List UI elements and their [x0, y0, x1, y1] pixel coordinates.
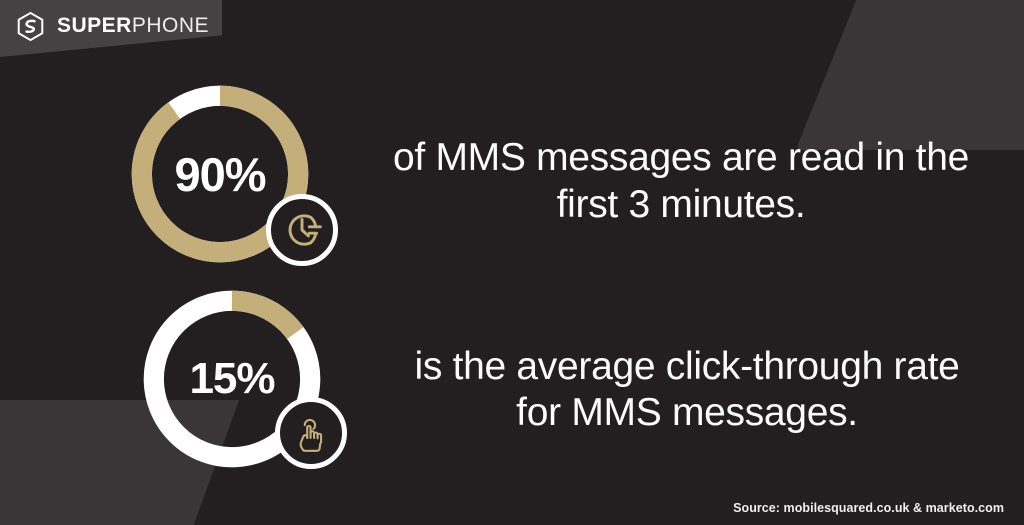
source-citation: Source: mobilesquared.co.uk & marketo.co… — [733, 501, 1004, 515]
superphone-hexagon-logo-icon — [15, 11, 46, 42]
brand-banner: SUPERPHONE — [0, 0, 222, 57]
brand-wordmark: SUPERPHONE — [57, 14, 209, 38]
stat-row-click-through: 15% — [0, 287, 1024, 487]
donut-chart-90: 90% — [128, 82, 358, 277]
brand-wordmark-light: PHONE — [132, 14, 209, 37]
stat-row-read-rate: 90% of MMS messages are read in the firs… — [0, 82, 1024, 277]
donut-chart-15: 15% — [140, 287, 370, 487]
tap-hand-icon — [291, 413, 331, 453]
infographic-canvas: SUPERPHONE 90% — [0, 0, 1024, 525]
statement-read-rate: of MMS messages are read in the first 3 … — [358, 135, 1024, 227]
brand-wordmark-bold: SUPER — [57, 14, 132, 37]
clock-icon — [280, 208, 324, 252]
badge-tap-hand — [275, 397, 347, 469]
badge-clock — [266, 194, 338, 266]
statement-click-through: is the average click-through rate for MM… — [370, 344, 1024, 436]
